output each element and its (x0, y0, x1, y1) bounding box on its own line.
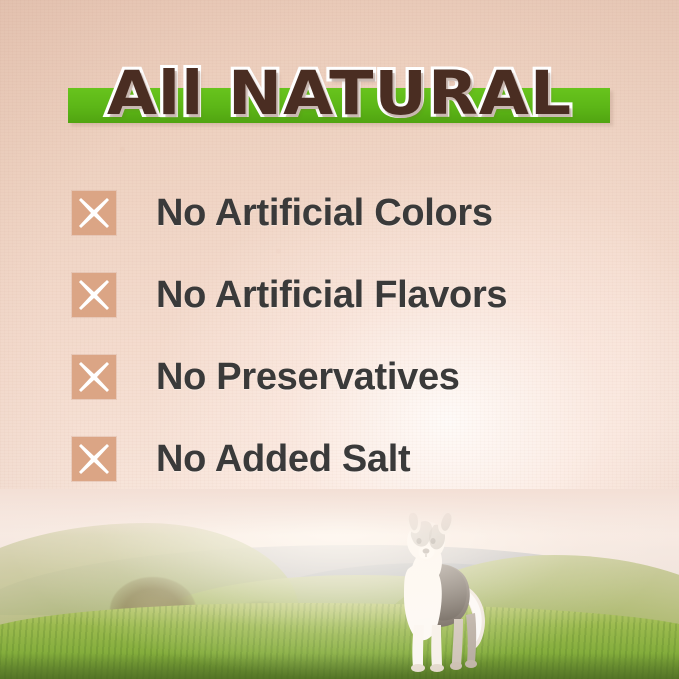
title-banner: All NATURAL (0, 52, 679, 136)
feature-item: No Preservatives (72, 336, 632, 418)
page-title: All NATURAL (0, 52, 679, 136)
feature-list: No Artificial Colors No Artificial Flavo… (72, 172, 632, 500)
landscape-photo (0, 489, 679, 679)
x-mark-icon (72, 273, 116, 317)
foreground-grass-shadow (0, 653, 679, 679)
feature-item: No Artificial Flavors (72, 254, 632, 336)
x-mark-icon (72, 437, 116, 481)
feature-label: No Artificial Colors (156, 192, 493, 235)
x-mark-icon (72, 191, 116, 235)
product-feature-poster: All NATURAL No Artificial Colors No Arti… (0, 0, 679, 679)
feature-item: No Artificial Colors (72, 172, 632, 254)
feature-label: No Added Salt (156, 438, 410, 481)
x-mark-icon (72, 355, 116, 399)
dog-photo (368, 507, 498, 679)
feature-label: No Preservatives (156, 356, 460, 399)
feature-item: No Added Salt (72, 418, 632, 500)
feature-label: No Artificial Flavors (156, 274, 507, 317)
